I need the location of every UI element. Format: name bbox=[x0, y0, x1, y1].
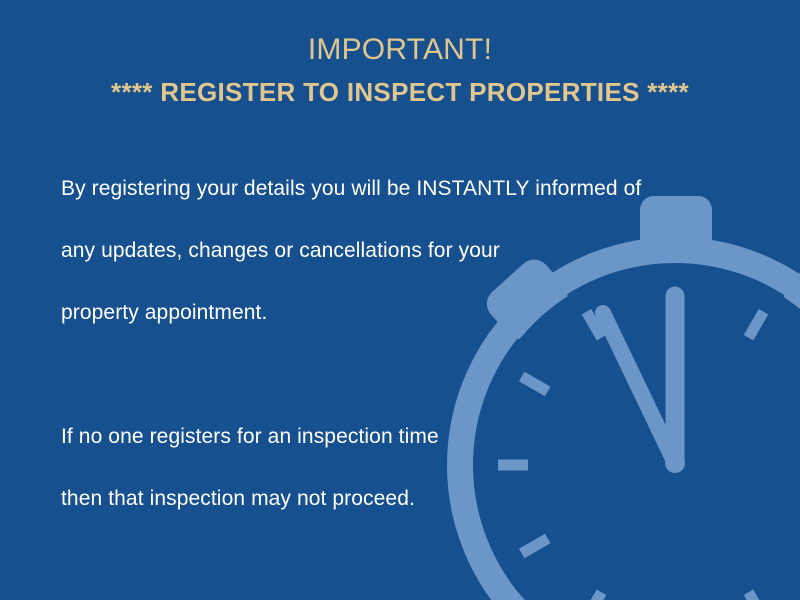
page-title-important: IMPORTANT! bbox=[0, 0, 800, 68]
paragraph-registering-benefits: By registering your details you will be … bbox=[61, 142, 721, 359]
paragraph1-line1: By registering your details you will be … bbox=[61, 173, 721, 204]
slide-canvas: IMPORTANT! **** REGISTER TO INSPECT PROP… bbox=[0, 0, 800, 600]
paragraph1-line2: any updates, changes or cancellations fo… bbox=[61, 235, 721, 266]
paragraph2-line1: If no one registers for an inspection ti… bbox=[61, 421, 721, 452]
stopwatch-right-button bbox=[777, 254, 800, 347]
paragraph-no-registrations: If no one registers for an inspection ti… bbox=[61, 390, 721, 545]
paragraph1-line3: property appointment. bbox=[61, 297, 721, 328]
headings-block: IMPORTANT! **** REGISTER TO INSPECT PROP… bbox=[0, 0, 800, 107]
paragraph2-line2: then that inspection may not proceed. bbox=[61, 483, 721, 514]
paragraph-call-to-action: DON’T MISS OUT Book for an inspection ti… bbox=[61, 576, 721, 600]
page-subtitle-register: **** REGISTER TO INSPECT PROPERTIES **** bbox=[0, 68, 800, 108]
body-copy-block: By registering your details you will be … bbox=[61, 142, 721, 600]
